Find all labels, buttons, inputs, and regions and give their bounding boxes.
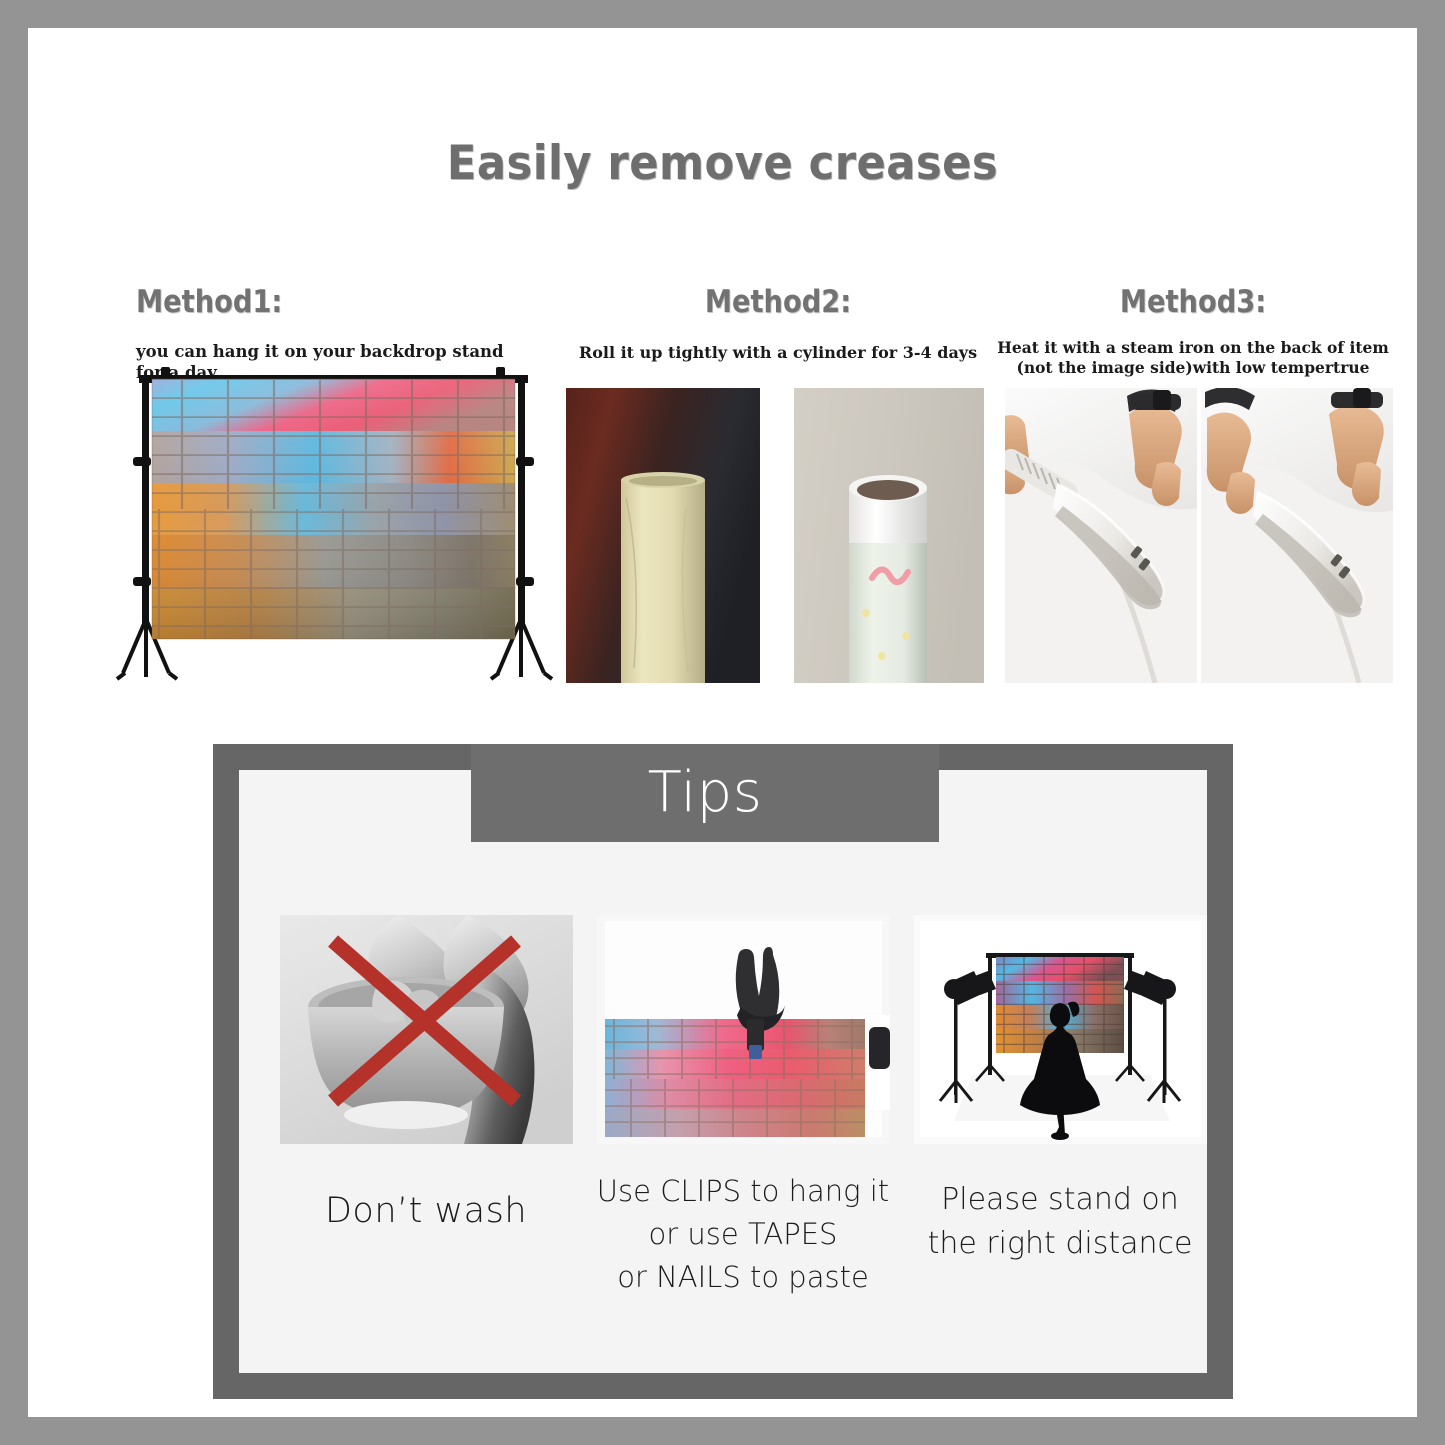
method-3-heading: Method3:	[1008, 284, 1378, 320]
steam-iron-photos	[1005, 388, 1395, 683]
clips-caption-line-3: or NAILS to paste	[584, 1256, 902, 1299]
backdrop-stand-illustration	[113, 361, 553, 691]
steam-iron-photo-2	[1201, 388, 1393, 683]
brick-backdrop-cloth	[152, 379, 515, 639]
clips-caption-line-1: Use CLIPS to hang it	[584, 1170, 902, 1213]
tips-panel-inner: Tips	[239, 770, 1207, 1373]
dont-wash-caption-line-1: Don’t wash	[267, 1186, 585, 1238]
dont-wash-caption: Don’t wash	[267, 1186, 585, 1238]
backdrop-stand-image	[113, 361, 553, 691]
stand-pole-left	[142, 375, 149, 625]
dont-wash-image	[280, 915, 573, 1144]
stand-pole-right	[518, 375, 525, 625]
method-3-body-line-1: Heat it with a steam iron on the back of…	[983, 338, 1403, 358]
tips-items: Don’t wash	[239, 915, 1207, 1355]
poster-frame: Easily remove creases Method1: you can h…	[28, 28, 1417, 1417]
cylinder-photo-dark	[566, 388, 760, 683]
cylinder-photos	[566, 388, 996, 683]
clips-caption: Use CLIPS to hang it or use TAPES or NAI…	[584, 1170, 902, 1299]
method-2-body: Roll it up tightly with a cylinder for 3…	[548, 343, 1008, 363]
methods-section: Method1: you can hang it on your backdro…	[28, 28, 1417, 728]
tips-panel: Tips	[213, 744, 1233, 1399]
method-1-body-line-1: you can hang it on your backdrop stand	[136, 341, 531, 362]
tip-item-clips: Use CLIPS to hang it or use TAPES or NAI…	[584, 915, 902, 1299]
tip-item-dont-wash: Don’t wash	[267, 915, 585, 1238]
cylinder-photo-light	[794, 388, 984, 683]
studio-setup-image	[914, 915, 1207, 1144]
clip-backdrop-image	[597, 915, 890, 1144]
method-2-body-line-1: Roll it up tightly with a cylinder for 3…	[548, 343, 1008, 363]
method-3-body: Heat it with a steam iron on the back of…	[983, 338, 1403, 378]
method-3-body-line-2: (not the image side)with low tempertrue	[983, 358, 1403, 378]
method-1-heading: Method1:	[136, 284, 282, 320]
tip-item-distance: Please stand on the right distance	[901, 915, 1219, 1267]
distance-caption-line-2: the right distance	[901, 1222, 1219, 1266]
tips-tab-label: Tips	[471, 744, 939, 842]
method-2-heading: Method2:	[576, 284, 981, 320]
clips-caption-line-2: or use TAPES	[584, 1213, 902, 1256]
distance-caption: Please stand on the right distance	[901, 1178, 1219, 1267]
distance-caption-line-1: Please stand on	[901, 1178, 1219, 1222]
steam-iron-photo-1	[1005, 388, 1197, 683]
